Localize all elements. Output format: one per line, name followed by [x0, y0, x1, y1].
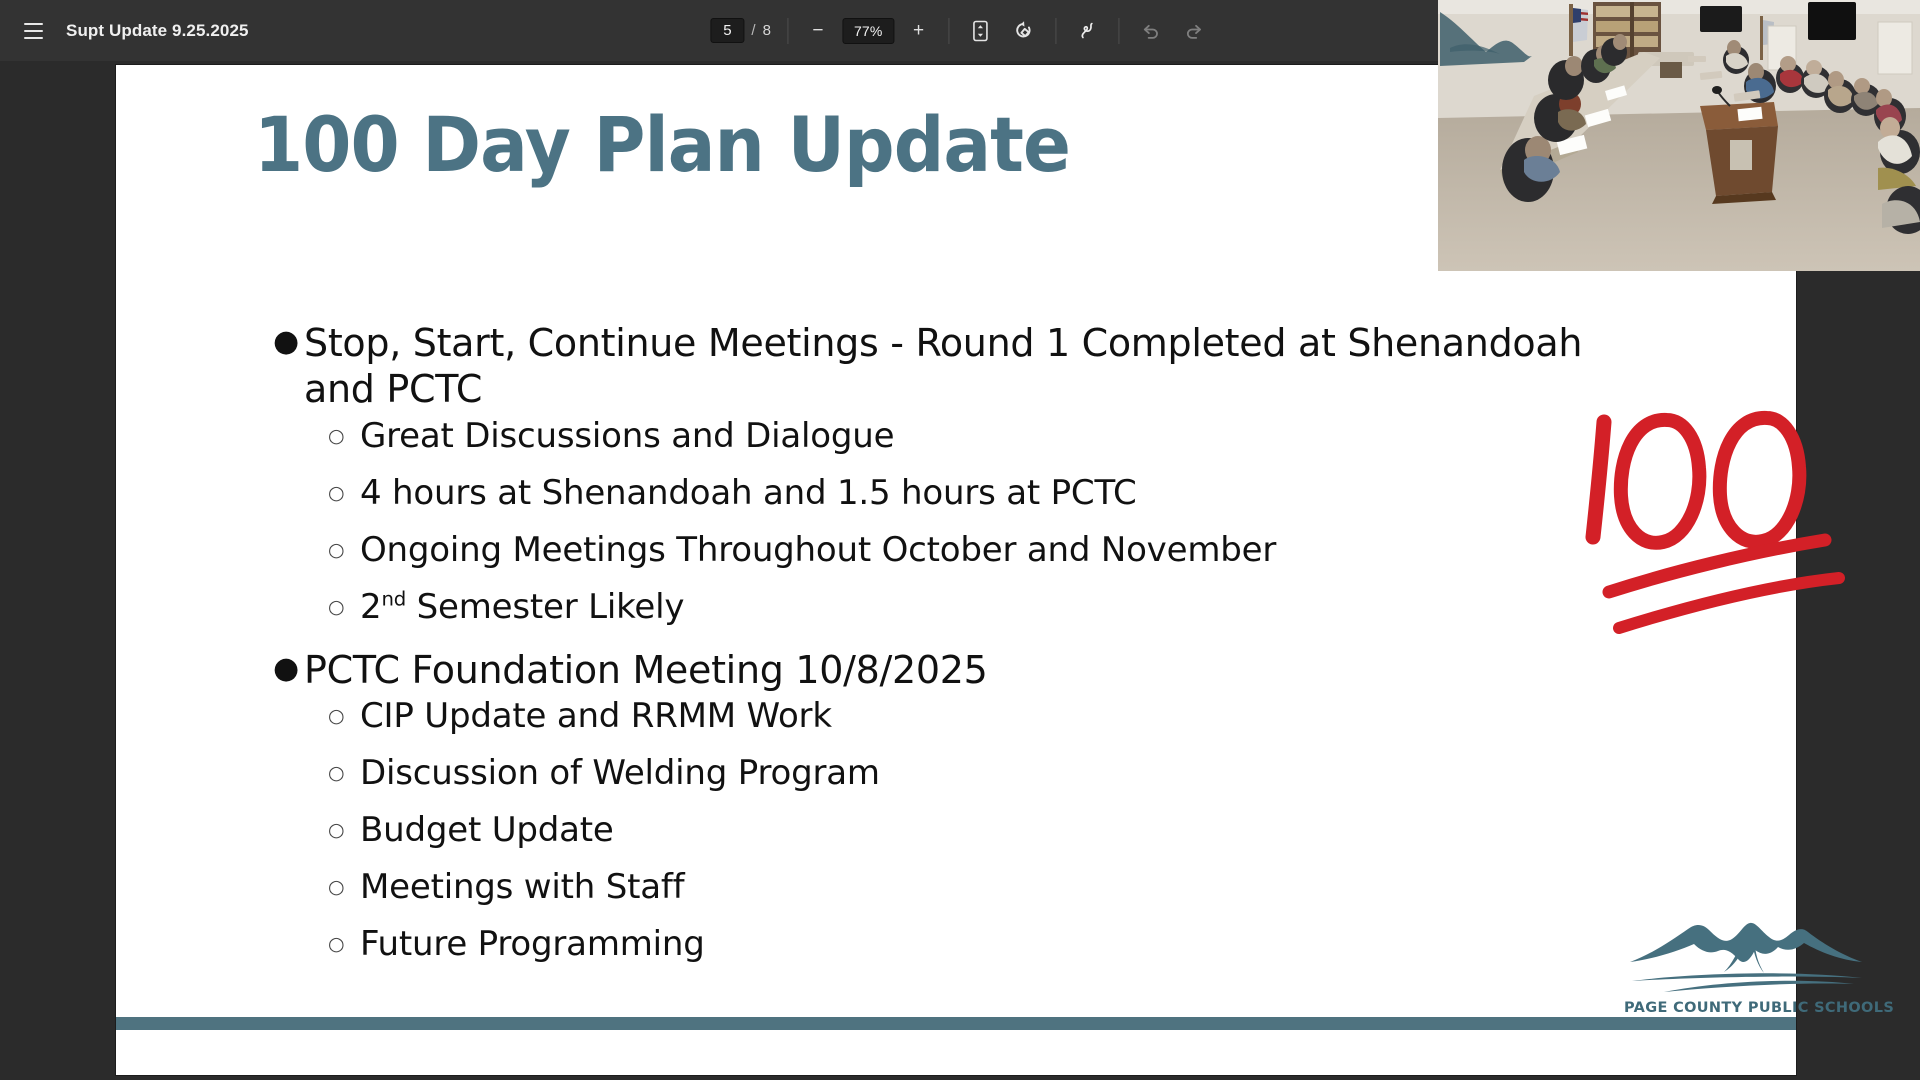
board-meeting-video-feed[interactable]: [1438, 0, 1920, 271]
mountain-icon: [1624, 910, 1869, 998]
bullet-marker-hollow: ○: [328, 814, 344, 847]
sub-bullet-text: Future Programming: [360, 924, 705, 964]
zoom-controls: − 77% +: [804, 17, 933, 45]
bullet-item: ● Stop, Start, Continue Meetings - Round…: [266, 320, 1666, 624]
sub-bullet-item: ○ 4 hours at Shenandoah and 1.5 hours at…: [328, 476, 1666, 510]
toolbar-divider: [1056, 18, 1057, 44]
toolbar-left-group: Supt Update 9.25.2025: [0, 16, 249, 46]
sub-bullet-item: ○ Discussion of Welding Program: [328, 756, 1666, 790]
sub-bullet-text: Discussion of Welding Program: [360, 753, 880, 793]
toolbar-icon-group: [966, 16, 1210, 46]
sub-bullet-text: Ongoing Meetings Throughout October and …: [360, 530, 1276, 570]
document-title: Supt Update 9.25.2025: [66, 21, 249, 41]
bullet-marker-hollow: ○: [328, 928, 344, 961]
bullet-text: Stop, Start, Continue Meetings - Round 1…: [304, 320, 1624, 413]
bullet-marker-hollow: ○: [328, 534, 344, 567]
bullet-marker-hollow: ○: [328, 420, 344, 453]
slide-body: ● Stop, Start, Continue Meetings - Round…: [266, 320, 1666, 984]
bullet-item: ● PCTC Foundation Meeting 10/8/2025 ○ CI…: [266, 647, 1666, 961]
sub-bullet-item: ○ Meetings with Staff: [328, 870, 1666, 904]
total-pages: 8: [763, 22, 771, 39]
zoom-in-button[interactable]: +: [905, 17, 933, 45]
rotate-icon[interactable]: [1010, 16, 1040, 46]
bullet-marker-filled: ●: [273, 647, 299, 691]
bullet-marker-hollow: ○: [328, 757, 344, 790]
ordinal-superscript: nd: [381, 587, 406, 610]
accent-bar: [116, 1017, 1796, 1030]
sub-bullet-item: ○ CIP Update and RRMM Work: [328, 699, 1666, 733]
video-frame: [1438, 0, 1920, 271]
sub-bullet-text: Meetings with Staff: [360, 867, 684, 907]
bullet-marker-filled: ●: [273, 320, 299, 364]
current-page-input[interactable]: 5: [710, 18, 744, 43]
sub-bullet-text: Great Discussions and Dialogue: [360, 416, 894, 456]
bullet-list-level2: ○ CIP Update and RRMM Work ○ Discussion …: [304, 699, 1666, 961]
sub-bullet-item: ○2nd Semester Likely: [328, 590, 1666, 624]
sub-bullet-item: ○ Great Discussions and Dialogue: [328, 419, 1666, 453]
toolbar-divider: [787, 18, 788, 44]
sub-bullet-item: ○ Budget Update: [328, 813, 1666, 847]
pdf-viewer-app: Supt Update 9.25.2025 5 / 8 − 77% +: [0, 0, 1920, 1080]
bullet-marker-hollow: ○: [328, 591, 344, 624]
sub-bullet-text: 2: [360, 587, 381, 627]
sub-bullet-text: Budget Update: [360, 810, 614, 850]
undo-icon[interactable]: [1136, 16, 1166, 46]
bullet-marker-hollow: ○: [328, 700, 344, 733]
hamburger-menu-icon[interactable]: [18, 16, 48, 46]
slide-title: 100 Day Plan Update: [254, 107, 1070, 183]
bullet-marker-hollow: ○: [328, 477, 344, 510]
bullet-text: PCTC Foundation Meeting 10/8/2025: [304, 647, 1624, 693]
page-county-public-schools-logo: PAGE COUNTY PUBLIC SCHOOLS: [1624, 910, 1869, 1030]
sub-bullet-text: CIP Update and RRMM Work: [360, 696, 832, 736]
fit-page-icon[interactable]: [966, 16, 996, 46]
page-separator: /: [751, 22, 755, 39]
bullet-marker-hollow: ○: [328, 871, 344, 904]
zoom-out-button[interactable]: −: [804, 17, 832, 45]
page-navigation: 5 / 8: [710, 18, 771, 43]
toolbar-divider: [949, 18, 950, 44]
red-handwritten-100-mark: [1571, 400, 1861, 640]
annotate-pen-icon[interactable]: [1073, 16, 1103, 46]
toolbar-center-group: 5 / 8 − 77% +: [710, 0, 1209, 61]
redo-icon[interactable]: [1180, 16, 1210, 46]
logo-text: PAGE COUNTY PUBLIC SCHOOLS: [1624, 1000, 1869, 1016]
toolbar-divider: [1119, 18, 1120, 44]
bullet-list-level1: ● Stop, Start, Continue Meetings - Round…: [266, 320, 1666, 961]
zoom-level-value[interactable]: 77%: [842, 18, 895, 44]
sub-bullet-text: 4 hours at Shenandoah and 1.5 hours at P…: [360, 473, 1137, 513]
bullet-list-level2: ○ Great Discussions and Dialogue ○ 4 hou…: [304, 419, 1666, 624]
sub-bullet-text-tail: Semester Likely: [406, 587, 684, 627]
sub-bullet-item: ○ Future Programming: [328, 927, 1666, 961]
sub-bullet-item: ○ Ongoing Meetings Throughout October an…: [328, 533, 1666, 567]
